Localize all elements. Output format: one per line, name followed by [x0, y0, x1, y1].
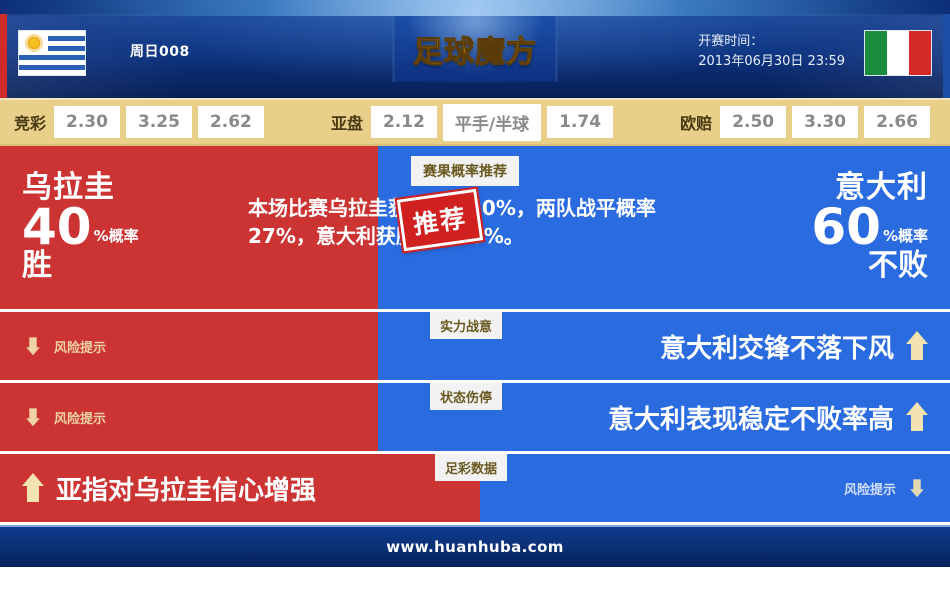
match-label: 周日008	[130, 41, 190, 61]
row-left-text: 风险提示	[54, 408, 106, 427]
odds-group-title: 欧赔	[680, 110, 712, 134]
away-team-panel: 赛果概率推荐 本场比赛乌拉圭获胜概率40%，两队战平概率27%，意大利获胜概率3…	[378, 146, 950, 309]
italy-flag-icon	[864, 30, 932, 76]
infographic-page: 周日008 足球魔方 开赛时间： 2013年06月30日 23:59 竞彩 2.…	[0, 0, 950, 594]
arrow-down-icon	[26, 337, 40, 356]
row-left-text: 风险提示	[54, 337, 106, 356]
odds-bar: 竞彩 2.30 3.25 2.62 亚盘 2.12 平手/半球 1.74 欧赔 …	[0, 98, 950, 146]
odds-cell[interactable]: 平手/半球	[443, 104, 541, 141]
home-team-block: 乌拉圭 40 %概率 胜	[0, 173, 139, 282]
kickoff-time: 开赛时间： 2013年06月30日 23:59	[698, 32, 845, 72]
odds-group-title: 竞彩	[14, 110, 46, 134]
row-tag: 实力战意	[430, 312, 502, 339]
row-right-text: 风险提示	[844, 479, 896, 498]
arrow-down-icon	[910, 479, 924, 498]
row-right-blue: 状态伤停 意大利表现稳定不败率高	[378, 383, 950, 451]
away-team-percent: 60	[811, 204, 881, 252]
row-left-red: 风险提示	[0, 383, 378, 451]
comparison-row: 风险提示 状态伤停 意大利表现稳定不败率高	[0, 383, 950, 454]
row-left-content: 风险提示	[22, 331, 106, 361]
row-left-content: 亚指对乌拉圭信心增强	[22, 470, 316, 507]
header-red-edge	[0, 14, 7, 98]
recommend-stamp: 推荐	[397, 189, 483, 252]
odds-cell[interactable]: 3.25	[126, 106, 192, 138]
home-team-percent: 40	[22, 204, 92, 252]
row-right-content: 意大利交锋不落下风	[660, 328, 928, 365]
odds-cell[interactable]: 2.66	[864, 106, 930, 138]
row-tag: 状态伤停	[430, 383, 502, 410]
row-left-red: 亚指对乌拉圭信心增强	[0, 454, 480, 522]
row-tag: 足彩数据	[435, 454, 507, 481]
site-logo[interactable]: 足球魔方	[393, 16, 558, 82]
header-blue-edge	[943, 14, 950, 98]
odds-cell[interactable]: 2.50	[720, 106, 786, 138]
row-right-content: 风险提示	[844, 473, 928, 503]
comparison-row: 风险提示 实力战意 意大利交锋不落下风	[0, 312, 950, 383]
odds-cell[interactable]: 2.12	[371, 106, 437, 138]
home-team-outcome: 胜	[22, 251, 139, 282]
arrow-up-icon	[906, 331, 928, 361]
odds-cell[interactable]: 1.74	[547, 106, 613, 138]
odds-group-jingcai: 竞彩 2.30 3.25 2.62	[14, 106, 270, 138]
site-url[interactable]: www.huanhuba.com	[386, 538, 564, 556]
odds-group-title: 亚盘	[331, 110, 363, 134]
odds-group-yapan: 亚盘 2.12 平手/半球 1.74	[331, 104, 619, 141]
kickoff-value: 2013年06月30日 23:59	[698, 52, 845, 72]
comparison-row: 亚指对乌拉圭信心增强 足彩数据 风险提示	[0, 454, 950, 525]
row-right-text: 意大利表现稳定不败率高	[608, 399, 894, 436]
odds-cell[interactable]: 2.30	[54, 106, 120, 138]
arrow-up-icon	[22, 473, 44, 503]
logo-text: 足球魔方	[413, 27, 537, 71]
home-team-percent-suffix: %概率	[94, 229, 139, 251]
comparison-rows: 风险提示 实力战意 意大利交锋不落下风 风险提示 状态伤停	[0, 312, 950, 525]
row-left-red: 风险提示	[0, 312, 378, 380]
main-tag: 赛果概率推荐	[411, 156, 519, 186]
footer: www.huanhuba.com	[0, 525, 950, 567]
arrow-up-icon	[906, 402, 928, 432]
row-right-content: 意大利表现稳定不败率高	[608, 399, 928, 436]
row-right-blue: 足彩数据 风险提示	[480, 454, 950, 522]
sun-icon	[27, 36, 41, 50]
row-left-content: 风险提示	[22, 402, 106, 432]
kickoff-label: 开赛时间：	[698, 32, 845, 52]
row-right-text: 意大利交锋不落下风	[660, 328, 894, 365]
row-right-blue: 实力战意 意大利交锋不落下风	[378, 312, 950, 380]
away-team-outcome: 不败	[378, 251, 928, 282]
odds-cell[interactable]: 3.30	[792, 106, 858, 138]
main-prediction-panel: 乌拉圭 40 %概率 胜 赛果概率推荐 本场比赛乌拉圭获胜概率40%，两队战平概…	[0, 146, 950, 312]
header: 周日008 足球魔方 开赛时间： 2013年06月30日 23:59	[0, 0, 950, 98]
odds-group-oupei: 欧赔 2.50 3.30 2.66	[680, 106, 936, 138]
row-left-text: 亚指对乌拉圭信心增强	[56, 470, 316, 507]
uruguay-flag-icon	[18, 30, 86, 76]
arrow-down-icon	[26, 408, 40, 427]
odds-cell[interactable]: 2.62	[198, 106, 264, 138]
